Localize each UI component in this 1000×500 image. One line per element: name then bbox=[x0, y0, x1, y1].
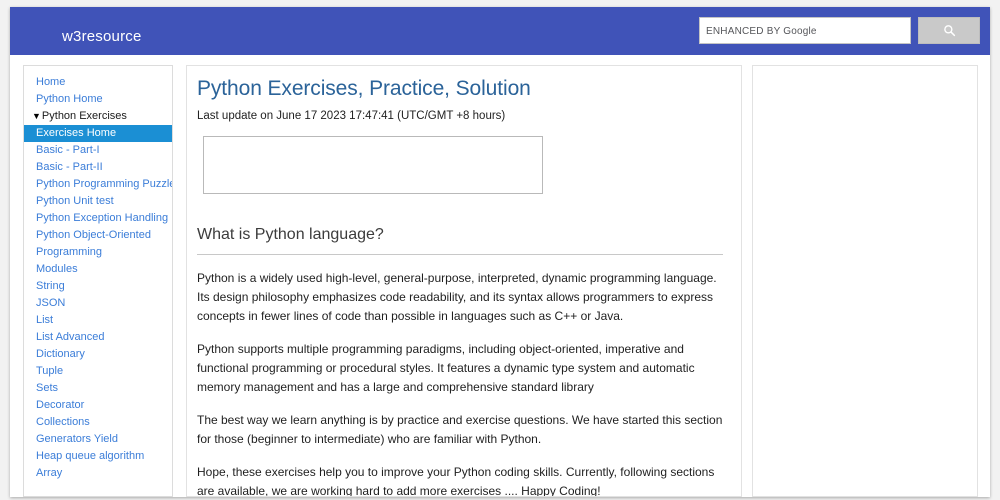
main-content-panel: Python Exercises, Practice, Solution Las… bbox=[186, 65, 742, 497]
right-sidebar-panel bbox=[752, 65, 978, 497]
last-update-timestamp: Last update on June 17 2023 17:47:41 (UT… bbox=[197, 109, 723, 124]
body-paragraph: Hope, these exercises help you to improv… bbox=[197, 463, 723, 497]
sidebar-item[interactable]: Dictionary bbox=[24, 346, 172, 363]
sidebar-item[interactable]: Generators Yield bbox=[24, 431, 172, 448]
sidebar-item[interactable]: String bbox=[24, 278, 172, 295]
body-paragraph: The best way we learn anything is by pra… bbox=[197, 411, 723, 449]
sidebar-item[interactable]: Home bbox=[24, 74, 172, 91]
sidebar-item-label: List Advanced bbox=[36, 331, 105, 343]
sidebar-item-label: Python Object-Oriented bbox=[36, 229, 151, 241]
sidebar-item[interactable]: Python Object-Oriented bbox=[24, 227, 172, 244]
sidebar-item-label: Home bbox=[36, 76, 65, 88]
sidebar-item-label: JSON bbox=[36, 297, 65, 309]
main-content-inner: Python Exercises, Practice, Solution Las… bbox=[187, 66, 741, 497]
search-button[interactable] bbox=[918, 17, 980, 44]
sidebar-item-label: Python Programming Puzzles bbox=[36, 178, 173, 190]
sidebar-item[interactable]: Python Programming Puzzles bbox=[24, 176, 172, 193]
sidebar-section-label[interactable]: ▼Python Exercises bbox=[24, 108, 172, 125]
sidebar-item-label: Exercises Home bbox=[36, 127, 116, 139]
brand-logo[interactable]: w3resource bbox=[62, 28, 142, 45]
sidebar-item-label: Programming bbox=[36, 246, 102, 258]
sidebar-item-label: Python Home bbox=[36, 93, 103, 105]
sidebar-item[interactable]: JSON bbox=[24, 295, 172, 312]
heading-divider bbox=[197, 254, 723, 255]
sidebar-item-label: Heap queue algorithm bbox=[36, 450, 144, 462]
body-paragraph: Python is a widely used high-level, gene… bbox=[197, 269, 723, 326]
content-row: HomePython Home▼Python ExercisesExercise… bbox=[10, 55, 990, 497]
sidebar-item[interactable]: Python Exception Handling bbox=[24, 210, 172, 227]
sidebar-item-label: Python Unit test bbox=[36, 195, 114, 207]
site-container: w3resource HomePython Home▼Python Exerci… bbox=[10, 7, 990, 497]
sidebar-item[interactable]: Python Home bbox=[24, 91, 172, 108]
sidebar-item[interactable]: Programming bbox=[24, 244, 172, 261]
sidebar-item-label: Python Exception Handling bbox=[36, 212, 168, 224]
sidebar-item-label: List bbox=[36, 314, 53, 326]
chevron-down-icon: ▼ bbox=[32, 111, 41, 121]
page-title: Python Exercises, Practice, Solution bbox=[197, 76, 723, 102]
site-header: w3resource bbox=[10, 7, 990, 55]
sidebar-item-label: Basic - Part-II bbox=[36, 161, 103, 173]
sidebar-item[interactable]: Sets bbox=[24, 380, 172, 397]
sidebar-item[interactable]: Exercises Home bbox=[24, 125, 172, 142]
sidebar-item-label: Tuple bbox=[36, 365, 63, 377]
sidebar-item[interactable]: Python Unit test bbox=[24, 193, 172, 210]
sidebar-item[interactable]: Decorator bbox=[24, 397, 172, 414]
body-paragraph: Python supports multiple programming par… bbox=[197, 340, 723, 397]
sidebar-item-label: Collections bbox=[36, 416, 90, 428]
sidebar-item[interactable]: Basic - Part-I bbox=[24, 142, 172, 159]
sidebar-item[interactable]: Heap queue algorithm bbox=[24, 448, 172, 465]
sidebar-item-label: Sets bbox=[36, 382, 58, 394]
sidebar-item-label: Basic - Part-I bbox=[36, 144, 100, 156]
sidebar-item-label: Decorator bbox=[36, 399, 84, 411]
search-input[interactable] bbox=[699, 17, 911, 44]
sidebar-item[interactable]: Collections bbox=[24, 414, 172, 431]
sidebar-navigation: HomePython Home▼Python ExercisesExercise… bbox=[23, 65, 173, 497]
sidebar-item[interactable]: Array bbox=[24, 465, 172, 482]
sidebar-item[interactable]: Tuple bbox=[24, 363, 172, 380]
paragraph-container: Python is a widely used high-level, gene… bbox=[197, 269, 723, 497]
sidebar-item[interactable]: List bbox=[24, 312, 172, 329]
sidebar-item-label: Array bbox=[36, 467, 62, 479]
sidebar-item-label: Dictionary bbox=[36, 348, 85, 360]
sidebar-item-label: Python Exercises bbox=[42, 110, 127, 122]
sidebar-item[interactable]: Basic - Part-II bbox=[24, 159, 172, 176]
browser-page-frame: w3resource HomePython Home▼Python Exerci… bbox=[0, 0, 1000, 500]
sidebar-list: HomePython Home▼Python ExercisesExercise… bbox=[24, 66, 172, 482]
sidebar-item-label: String bbox=[36, 280, 65, 292]
sidebar-item[interactable]: List Advanced bbox=[24, 329, 172, 346]
sidebar-item-label: Modules bbox=[36, 263, 78, 275]
search-icon bbox=[943, 24, 956, 37]
sidebar-item-label: Generators Yield bbox=[36, 433, 118, 445]
google-search-widget bbox=[699, 17, 980, 44]
sidebar-item[interactable]: Modules bbox=[24, 261, 172, 278]
section-heading: What is Python language? bbox=[197, 224, 723, 246]
advertisement-placeholder bbox=[203, 136, 543, 194]
